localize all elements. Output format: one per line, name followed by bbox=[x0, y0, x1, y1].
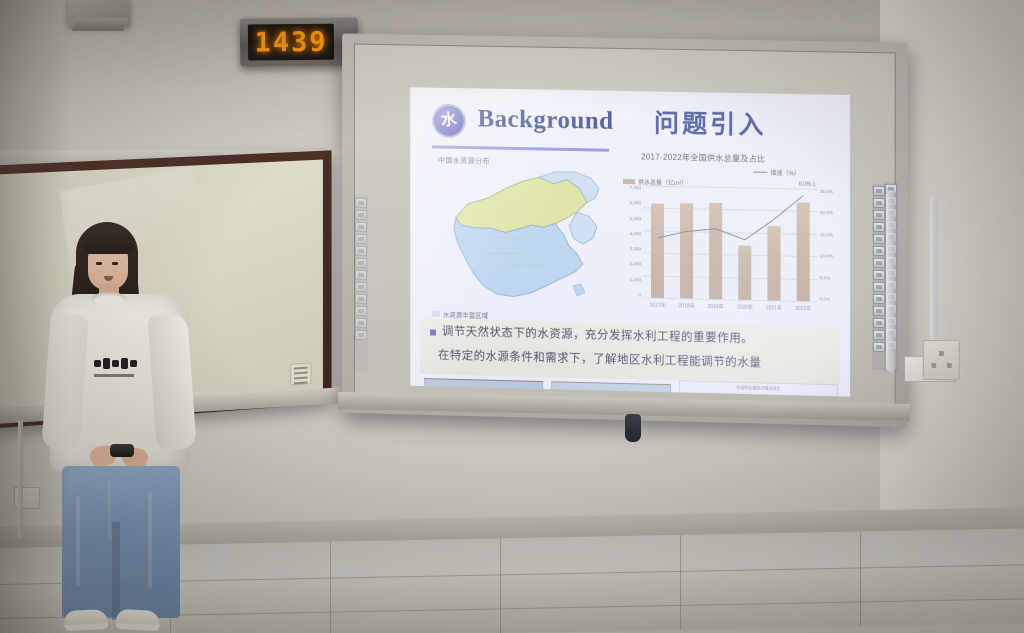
wall-digital-clock: 1439 bbox=[240, 17, 358, 66]
chart-bar bbox=[709, 202, 722, 299]
smartboard-tool-icon[interactable] bbox=[355, 306, 367, 316]
chart-x-tick: 2019年 bbox=[708, 303, 724, 315]
water-logo-icon: 水 bbox=[432, 104, 466, 138]
smartboard-tool-icon[interactable] bbox=[355, 318, 367, 328]
chart-title: 2017-2022年全国供水总量及占比 bbox=[641, 151, 765, 164]
bullet-item-2: 在特定的水源条件和需求下，了解地区水利工程能调节的水量 bbox=[438, 350, 761, 370]
smartboard-tool-icon[interactable] bbox=[355, 258, 367, 268]
smartboard-tool-icon[interactable] bbox=[355, 246, 367, 256]
mini-chart-title: 各省供水量统计情况对比 bbox=[680, 383, 837, 393]
china-map-graphic bbox=[428, 165, 615, 311]
map-legend-swatch bbox=[432, 311, 440, 317]
leg-separation bbox=[112, 522, 120, 620]
ytick-left: 3,000 bbox=[629, 246, 641, 251]
whiteboard-label-sticker bbox=[290, 362, 311, 385]
interactive-whiteboard[interactable]: 水 Background 问题引入 中国水资源分布 bbox=[342, 33, 908, 427]
chart-x-tick: 2022年 bbox=[795, 305, 811, 317]
projected-slide-area: 水 Background 问题引入 中国水资源分布 bbox=[410, 87, 850, 396]
chart-y-axis-left: 7,000 6,000 5,000 4,000 3,000 2,000 1,00… bbox=[617, 185, 641, 298]
chart-y-axis-right: 25.0% 20.0% 15.0% 10.0% 5.0% 0.0% bbox=[820, 189, 844, 302]
ytick-left: 5,000 bbox=[629, 216, 641, 221]
chart-bar bbox=[767, 226, 780, 300]
ytick-left: 0 bbox=[638, 292, 641, 297]
chart-bars bbox=[643, 185, 818, 301]
logo-glyph: 水 bbox=[440, 112, 457, 129]
eye-right bbox=[112, 262, 118, 265]
presentation-slide: 水 Background 问题引入 中国水资源分布 bbox=[410, 87, 850, 396]
smartboard-tool-icon[interactable] bbox=[355, 234, 367, 244]
ytick-left: 4,000 bbox=[629, 231, 641, 236]
marker-pen[interactable] bbox=[625, 414, 641, 442]
conduit-pipe bbox=[18, 420, 23, 538]
chart-bar bbox=[680, 203, 693, 299]
ytick-left: 1,000 bbox=[629, 277, 641, 282]
ytick-right: 25.0% bbox=[820, 189, 833, 194]
ytick-left: 7,000 bbox=[629, 185, 641, 190]
chart-x-axis: 2017年2018年2019年2020年2021年2022年 bbox=[643, 301, 818, 317]
bullet-text-1: 调节天然状态下的水资源，充分发挥水利工程的重要作用。 bbox=[442, 326, 753, 346]
chart-bar bbox=[797, 202, 810, 301]
chart-legend: 供水总量（亿m³） 增速（%） bbox=[617, 165, 844, 183]
presentation-clicker[interactable] bbox=[110, 444, 134, 457]
wall-switch-plate[interactable] bbox=[923, 340, 960, 381]
bullet-item-1: 调节天然状态下的水资源，充分发挥水利工程的重要作用。 bbox=[430, 325, 753, 345]
ytick-right: 15.0% bbox=[820, 232, 833, 237]
collar bbox=[92, 292, 126, 306]
smartboard-tool-icon[interactable] bbox=[355, 294, 367, 304]
mini-chart-plot bbox=[700, 394, 819, 397]
legend-item-line: 增速（%） bbox=[753, 168, 800, 178]
glass-panel-edge-2 bbox=[930, 196, 938, 356]
legend-bar-swatch bbox=[623, 179, 635, 184]
classroom-scene: 1439 水 Background 问题引入 bbox=[0, 0, 1024, 633]
chart-x-tick: 2018年 bbox=[678, 302, 694, 314]
slide-title-cn: 问题引入 bbox=[654, 104, 766, 142]
mini-chart-bars bbox=[700, 394, 819, 397]
shoe-right bbox=[116, 609, 161, 631]
ytick-left: 6,000 bbox=[629, 200, 641, 205]
legend-line-swatch bbox=[753, 172, 767, 173]
ceiling-speaker-front bbox=[71, 18, 128, 31]
smartboard-tool-icon[interactable] bbox=[355, 222, 367, 232]
eye-left bbox=[96, 262, 102, 265]
ytick-right: 20.0% bbox=[820, 210, 833, 215]
slide-header: 水 Background 问题引入 bbox=[410, 87, 850, 153]
china-map-svg bbox=[428, 165, 615, 311]
mini-chart-bar bbox=[719, 394, 723, 396]
ytick-right: 10.0% bbox=[820, 253, 833, 258]
sweatshirt-graphic bbox=[88, 352, 142, 374]
smartboard-tool-icon[interactable] bbox=[355, 210, 367, 220]
supply-chart: 2017-2022年全国供水总量及占比 供水总量（亿m³） 增速（%） bbox=[617, 151, 844, 324]
chart-x-tick: 2021年 bbox=[766, 304, 782, 316]
clock-face: 1439 bbox=[248, 24, 334, 61]
sweatshirt-graphic-subtext bbox=[94, 374, 134, 377]
smartboard-surface: 水 Background 问题引入 中国水资源分布 bbox=[354, 44, 896, 413]
glass-panel-edge bbox=[886, 190, 896, 372]
chart-x-tick: 2017年 bbox=[649, 302, 665, 314]
photo-dry-cracked-earth bbox=[551, 381, 671, 396]
slide-title-en: Background bbox=[478, 105, 614, 135]
shoe-left bbox=[64, 609, 109, 631]
ytick-right: 0.0% bbox=[820, 296, 831, 301]
ytick-left: 2,000 bbox=[629, 262, 641, 267]
student-presenter bbox=[44, 222, 194, 633]
fringe bbox=[84, 230, 134, 254]
bullet-square-icon bbox=[430, 329, 436, 335]
chart-bar bbox=[651, 203, 664, 298]
smartboard-toolbar-left[interactable] bbox=[354, 196, 368, 372]
province-supply-mini-chart: 各省供水量统计情况对比 bbox=[679, 380, 838, 396]
bullet-band: 调节天然状态下的水资源，充分发挥水利工程的重要作用。 在特定的水源条件和需求下，… bbox=[420, 318, 840, 384]
chart-data-label: 6196.1 bbox=[799, 182, 816, 188]
smartboard-tool-icon[interactable] bbox=[355, 270, 367, 280]
legend-line-label: 增速（%） bbox=[770, 168, 800, 178]
chart-plot-area: 6196.1 bbox=[643, 185, 818, 301]
bullet-text-2: 在特定的水源条件和需求下，了解地区水利工程能调节的水量 bbox=[438, 350, 761, 370]
title-underline bbox=[432, 145, 609, 151]
chart-x-tick: 2020年 bbox=[737, 304, 753, 316]
smartboard-tool-icon[interactable] bbox=[355, 330, 367, 340]
jeans bbox=[62, 466, 180, 618]
clock-time: 1439 bbox=[254, 26, 327, 58]
smartboard-tool-icon[interactable] bbox=[355, 198, 367, 208]
smartboard-tool-icon[interactable] bbox=[355, 282, 367, 292]
chart-bar bbox=[738, 245, 751, 300]
ytick-right: 5.0% bbox=[820, 275, 831, 280]
